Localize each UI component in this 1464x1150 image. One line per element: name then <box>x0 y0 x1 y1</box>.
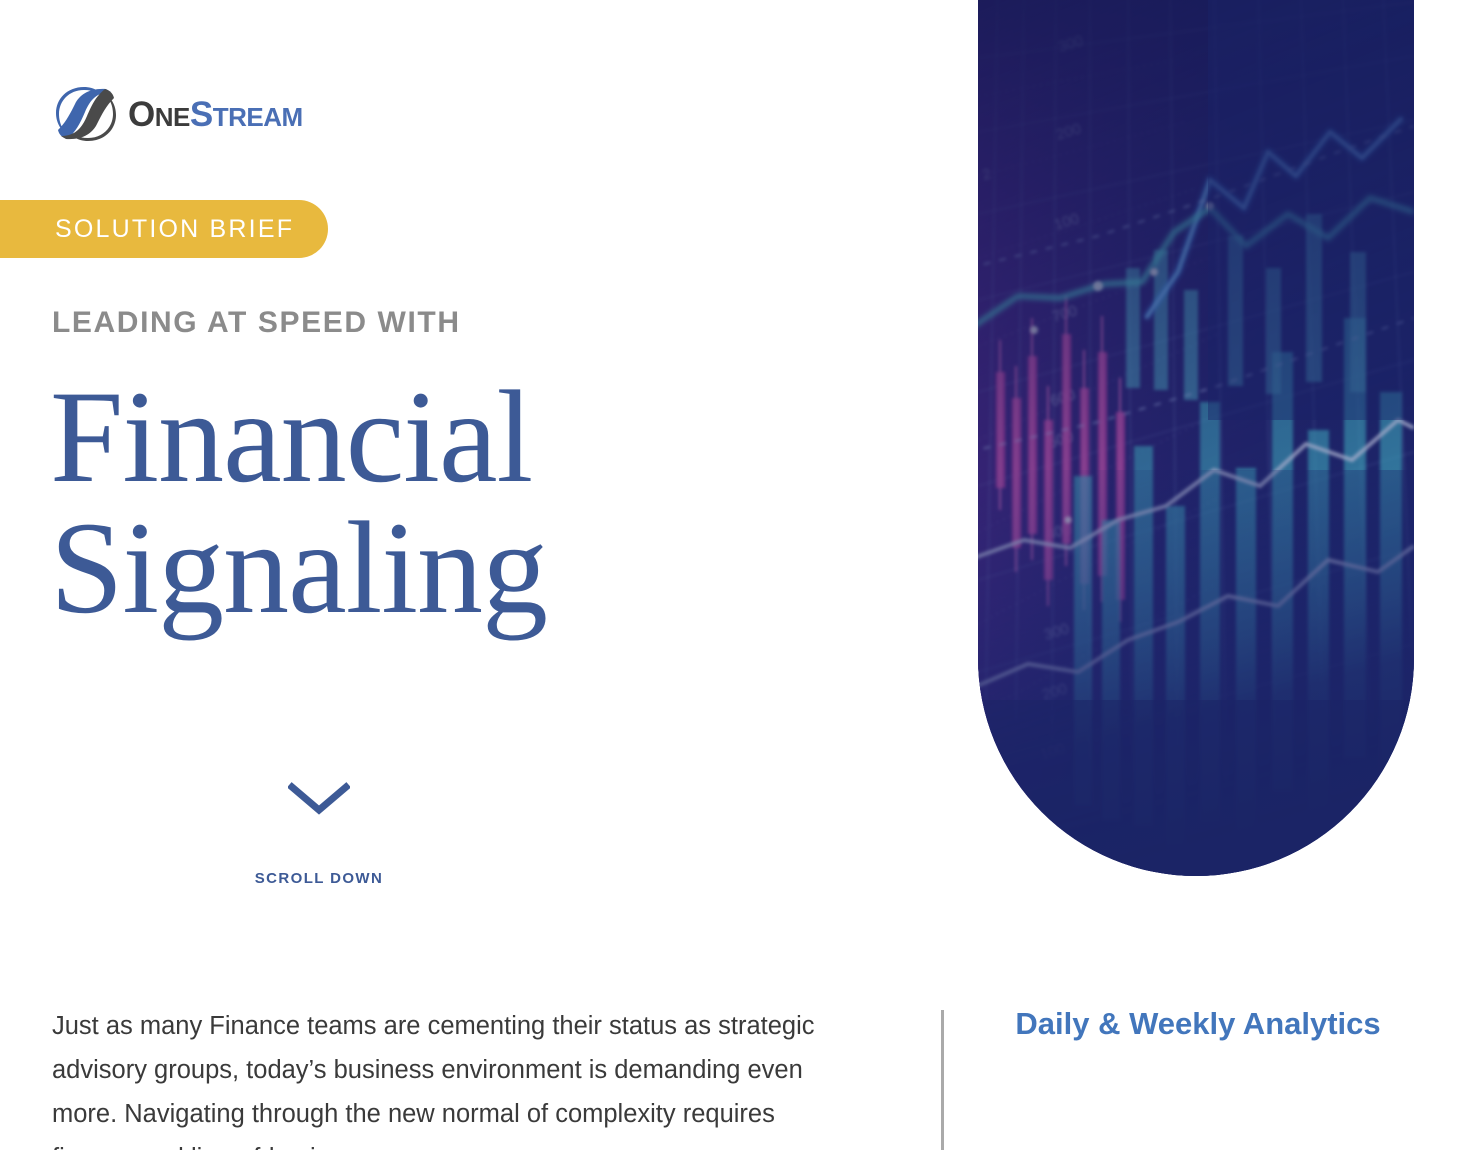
hero-eyebrow: LEADING AT SPEED WITH <box>52 306 461 340</box>
page-title: Financial Signaling <box>50 372 547 633</box>
logo-word-stream-first-letter: S <box>190 95 213 134</box>
side-card: Daily & Weekly Analytics <box>962 1003 1434 1044</box>
chevron-down-icon[interactable] <box>288 782 350 816</box>
scroll-down-label: SCROLL DOWN <box>255 870 383 887</box>
onestream-logo[interactable]: ONESTREAM <box>50 83 303 145</box>
intro-paragraph: Just as many Finance teams are cementing… <box>52 1005 852 1150</box>
page-title-line-2: Signaling <box>50 503 547 634</box>
logo-word-one-rest: NE <box>155 102 190 132</box>
solution-brief-badge: SOLUTION BRIEF <box>0 200 328 258</box>
scroll-down-cue[interactable]: SCROLL DOWN <box>180 782 458 887</box>
hero-image: 300 200 100 700 600 500 400 300 200 100 … <box>978 0 1414 876</box>
onestream-wordmark: ONESTREAM <box>128 97 303 132</box>
side-card-title: Daily & Weekly Analytics <box>962 1003 1434 1044</box>
logo-word-stream-rest: TREAM <box>213 102 303 132</box>
onestream-swoosh-logo-icon <box>50 83 122 145</box>
logo-word-one-first-letter: O <box>128 95 155 134</box>
badge-label: SOLUTION BRIEF <box>55 215 294 244</box>
vertical-divider <box>941 1010 944 1150</box>
page-title-line-1: Financial <box>50 372 547 503</box>
solution-brief-page: ONESTREAM SOLUTION BRIEF LEADING AT SPEE… <box>0 0 1464 1150</box>
financial-chart-graphic: 300 200 100 700 600 500 400 300 200 100 … <box>978 0 1414 876</box>
